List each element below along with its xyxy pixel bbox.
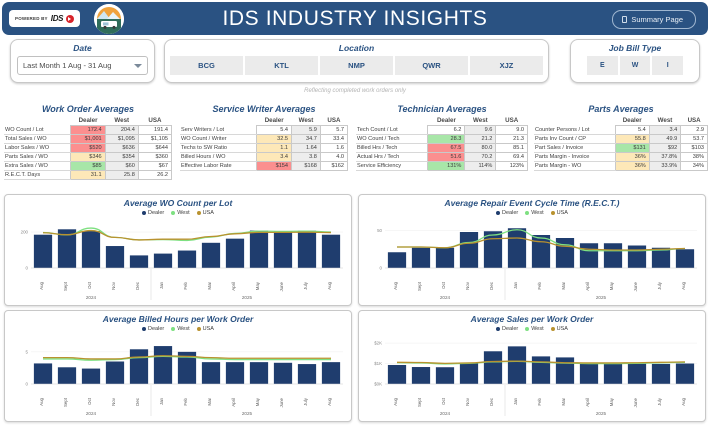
svg-text:0: 0 [26,266,29,271]
bar-Mar[interactable] [202,243,220,268]
legend-dot-icon [496,327,500,331]
row-label: Labor Sales / WO [4,144,71,153]
cell-dealer: 28.3 [428,135,465,144]
table-row: Tech Count / Lot6.29.69.0 [356,126,528,135]
bar-Sept[interactable] [58,367,76,384]
row-label: Actual Hrs / Tech [356,153,428,162]
bar-June[interactable] [628,364,646,384]
location-option-2[interactable]: NMP [320,56,393,75]
table-row: Actual Hrs / Tech51.670.269.4 [356,153,528,162]
cell-usa: 85.1 [496,144,528,153]
kpi-table-technician-averages: DealerWestUSATech Count / Lot6.29.69.0WO… [356,117,528,171]
table-row: WO Count / Tech28.321.221.3 [356,135,528,144]
row-label: Tech Count / Lot [356,126,428,135]
legend-dot-icon [142,327,146,331]
cell-west: 204.4 [105,126,138,135]
cell-dealer: 1.1 [257,144,292,153]
chevron-down-icon [134,64,142,68]
cell-usa: 2.9 [681,126,708,135]
bar-Aug[interactable] [388,252,406,268]
x-axis-label-Jan: Jan [159,281,164,289]
bar-Nov[interactable] [106,246,124,268]
x-axis-label-Jan: Jan [513,281,518,289]
summary-page-button[interactable]: Summary Page [612,10,696,29]
bar-Mar[interactable] [556,238,574,268]
x-axis-label-Oct: Oct [87,397,92,405]
cell-west: $60 [105,162,138,171]
cell-dealer: 36% [615,162,649,171]
x-axis-label-Oct: Oct [441,397,446,405]
bar-Nov[interactable] [460,232,478,268]
table-row: Effective Labor Rate$154$168$162 [180,162,348,171]
cell-west: $92 [649,144,680,153]
x-axis-label-June: June [279,397,284,407]
table-row: Part Sales / Invoice$131$92$103 [534,144,708,153]
cell-west: 3.4 [649,126,680,135]
row-label: Techs to SW Ratio [180,144,257,153]
x-axis-group-label-2025: 2025 [596,411,607,416]
legend-label: USA [557,326,568,332]
chart-svg-avg-sales-per-work-order: $0K$1K$2KAugSeptOctNovDecJanFebMarAprilM… [359,333,705,418]
bar-Dec[interactable] [484,351,502,384]
cell-dealer: 31.1 [71,171,105,180]
kpi-table-parts-averages: DealerWestUSACounter Persons / Lot5.43.4… [534,117,708,171]
column-header-west: West [292,117,321,126]
cell-west: $636 [105,144,138,153]
chart-title-avg-sales-per-work-order: Average Sales per Work Order [359,311,705,324]
bar-April[interactable] [226,362,244,384]
row-label: Parts Margin - Invoice [534,153,615,162]
legend-label: West [177,326,189,332]
row-label: Extra Sales / WO [4,162,71,171]
x-axis-label-June: June [633,397,638,407]
cell-west: $1,095 [105,135,138,144]
x-axis-label-July: July [657,281,662,290]
date-filter-card: Date Last Month 1 Aug - 31 Aug [10,39,155,83]
table-row: Counter Persons / Lot5.43.42.9 [534,126,708,135]
x-axis-group-label-2025: 2025 [242,295,253,300]
table-row: Total Sales / WO$1,001$1,095$1,105 [4,135,172,144]
bar-Oct[interactable] [436,367,454,384]
chart-legend: DealerWestUSA [5,210,351,216]
table-row: Parts Margin - Invoice36%37.8%38% [534,153,708,162]
kpi-block-technician-averages: Technician AveragesDealerWestUSATech Cou… [356,104,528,171]
column-header-dealer: Dealer [428,117,465,126]
bar-Aug[interactable] [676,364,694,384]
column-header-blank [534,117,615,126]
x-axis-label-May: May [609,397,614,406]
x-axis-label-Aug: Aug [681,281,686,289]
bar-April[interactable] [580,243,598,268]
x-axis-label-Aug: Aug [39,281,44,289]
svg-text:$2K: $2K [374,341,382,346]
legend-label: West [531,210,543,216]
svg-text:0: 0 [26,382,29,387]
bar-Dec[interactable] [130,349,148,384]
bar-Dec[interactable] [484,231,502,268]
legend-label: West [177,210,189,216]
bar-Jan[interactable] [508,346,526,384]
legend-dot-icon [525,327,529,331]
column-header-blank [180,117,257,126]
job-bill-type-option-2[interactable]: I [652,56,683,75]
cell-dealer: 131% [428,162,465,171]
x-axis-label-April: April [231,282,236,291]
bar-Oct[interactable] [82,231,100,268]
table-row: Parts Inv Count / CP55.849.953.7 [534,135,708,144]
x-axis-label-Feb: Feb [537,397,542,405]
x-axis-label-Aug: Aug [327,281,332,289]
bar-July[interactable] [652,248,670,268]
row-label: Part Sales / Invoice [534,144,615,153]
row-label: Total Sales / WO [4,135,71,144]
chart-title-avg-repair-event-cycle-time: Average Repair Event Cycle Time (R.E.C.T… [359,195,705,208]
bar-Feb[interactable] [532,356,550,384]
kpi-table-service-writer-averages: DealerWestUSAServ Writers / Lot5.45.95.7… [180,117,348,171]
dashboard-root: POWERED BY IDS IDS INDUSTRY INSIGHTS Sum… [0,0,710,425]
bar-Nov[interactable] [106,362,124,385]
row-label: Service Efficiency [356,162,428,171]
cell-west: $168 [292,162,321,171]
cell-west: 3.8 [292,153,321,162]
column-header-west: West [649,117,680,126]
row-label: Parts Margin - WO [534,162,615,171]
cell-dealer: 36% [615,153,649,162]
column-header-usa: USA [496,117,528,126]
summary-page-label: Summary Page [631,15,683,24]
table-row: Extra Sales / WO$85$60$67 [4,162,172,171]
x-axis-group-label-2025: 2025 [242,411,253,416]
table-row: Serv Writers / Lot5.45.95.7 [180,126,348,135]
chart-panel-avg-repair-event-cycle-time: Average Repair Event Cycle Time (R.E.C.T… [358,194,706,306]
bar-April[interactable] [580,364,598,384]
cell-usa: $360 [138,153,171,162]
bar-May[interactable] [604,364,622,384]
legend-item-usa[interactable]: USA [197,210,214,216]
x-axis-label-Mar: Mar [207,281,212,289]
row-label: R.E.C.T. Days [4,171,71,180]
document-icon [622,16,627,23]
column-header-west: West [465,117,496,126]
table-header-row: DealerWestUSA [4,117,172,126]
row-label: WO Count / Tech [356,135,428,144]
kpi-block-work-order-averages: Work Order AveragesDealerWestUSAWO Count… [4,104,172,180]
row-label: Parts Sales / WO [4,153,71,162]
legend-label: USA [203,326,214,332]
cell-west: 80.0 [465,144,496,153]
bar-Feb[interactable] [532,235,550,268]
x-axis-label-Mar: Mar [561,281,566,289]
cell-dealer: 6.2 [428,126,465,135]
table-row: Service Efficiency131%114%123% [356,162,528,171]
x-axis-label-Dec: Dec [489,397,494,406]
legend-dot-icon [197,211,201,215]
bar-Dec[interactable] [130,255,148,268]
x-axis-label-June: June [633,281,638,291]
kpi-tables-row: Work Order AveragesDealerWestUSAWO Count… [0,104,710,188]
cell-usa: 33.4 [320,135,347,144]
legend-item-west[interactable]: West [525,326,543,332]
legend-label: Dealer [148,210,164,216]
bar-Nov[interactable] [460,363,478,384]
x-axis-label-Aug: Aug [393,281,398,289]
svg-text:0: 0 [380,266,383,271]
legend-item-west[interactable]: West [171,326,189,332]
kpi-title-technician-averages: Technician Averages [356,104,528,114]
row-label: WO Count / Lot [4,126,71,135]
cell-west: 49.9 [649,135,680,144]
cell-dealer: $346 [71,153,105,162]
cell-dealer: 5.4 [615,126,649,135]
legend-dot-icon [551,211,555,215]
legend-item-dealer[interactable]: Dealer [142,210,164,216]
x-axis-label-April: April [231,398,236,407]
column-header-dealer: Dealer [615,117,649,126]
legend-label: USA [557,210,568,216]
bar-Jan[interactable] [508,228,526,268]
chart-svg-avg-wo-count-per-lot: 0200AugSeptOctNovDecJanFebMarAprilMayJun… [5,217,351,302]
column-header-blank [4,117,71,126]
x-axis-label-Aug: Aug [39,397,44,405]
bar-Aug[interactable] [34,235,52,268]
job-bill-type-title: Job Bill Type [571,40,699,53]
location-option-4[interactable]: XJZ [470,56,543,75]
column-header-west: West [105,117,138,126]
refresh-note: Reflecting completed work orders only [0,88,710,94]
filter-bar: Date Last Month 1 Aug - 31 Aug Location … [4,39,706,85]
chart-title-avg-wo-count-per-lot: Average WO Count per Lot [5,195,351,208]
legend-dot-icon [525,211,529,215]
cell-usa: 34% [681,162,708,171]
x-axis-label-Oct: Oct [441,281,446,289]
cell-usa: 5.7 [320,126,347,135]
chart-panel-avg-wo-count-per-lot: Average WO Count per LotDealerWestUSA020… [4,194,352,306]
column-header-usa: USA [681,117,708,126]
row-label: Billed Hours / WO [180,153,257,162]
x-axis-label-Oct: Oct [87,281,92,289]
legend-dot-icon [551,327,555,331]
cell-west: 1.64 [292,144,321,153]
cell-west: 25.8 [105,171,138,180]
svg-text:5: 5 [26,349,29,354]
cell-dealer: $154 [257,162,292,171]
bar-Jan[interactable] [154,254,172,268]
bar-May[interactable] [250,231,268,268]
bar-Oct[interactable] [82,369,100,384]
legend-item-usa[interactable]: USA [551,210,568,216]
row-label: Counter Persons / Lot [534,126,615,135]
x-axis-label-Nov: Nov [111,281,116,290]
legend-dot-icon [171,327,175,331]
cell-usa: $103 [681,144,708,153]
chart-title-avg-billed-hours-per-work-order: Average Billed Hours per Work Order [5,311,351,324]
bar-July[interactable] [298,364,316,384]
legend-item-west[interactable]: West [171,210,189,216]
cell-usa: $67 [138,162,171,171]
x-axis-group-label-2025: 2025 [596,295,607,300]
legend-dot-icon [197,327,201,331]
legend-item-usa[interactable]: USA [551,326,568,332]
table-header-row: DealerWestUSA [534,117,708,126]
legend-item-dealer[interactable]: Dealer [142,326,164,332]
bar-Aug[interactable] [388,365,406,384]
row-label: Parts Inv Count / CP [534,135,615,144]
column-header-usa: USA [138,117,171,126]
bar-Mar[interactable] [556,357,574,384]
kpi-block-parts-averages: Parts AveragesDealerWestUSACounter Perso… [534,104,708,171]
x-axis-label-Sept: Sept [417,281,422,291]
page-title: IDS INDUSTRY INSIGHTS [2,7,708,31]
legend-item-west[interactable]: West [525,210,543,216]
x-axis-label-June: June [279,281,284,291]
x-axis-label-Dec: Dec [135,397,140,406]
chart-svg-avg-repair-event-cycle-time: 050AugSeptOctNovDecJanFebMarAprilMayJune… [359,217,705,302]
bar-Aug[interactable] [34,363,52,384]
location-option-1[interactable]: KTL [245,56,318,75]
bar-July[interactable] [652,364,670,384]
x-axis-group-label-2024: 2024 [86,411,97,416]
x-axis-label-May: May [255,397,260,406]
cell-usa: 9.0 [496,126,528,135]
cell-usa: $644 [138,144,171,153]
chart-legend: DealerWestUSA [5,326,351,332]
chart-legend: DealerWestUSA [359,210,705,216]
bar-May[interactable] [250,362,268,384]
x-axis-label-Sept: Sept [417,397,422,407]
bar-Aug[interactable] [676,249,694,268]
legend-item-dealer[interactable]: Dealer [496,326,518,332]
x-axis-label-Feb: Feb [183,397,188,405]
kpi-title-service-writer-averages: Service Writer Averages [180,104,348,114]
legend-dot-icon [496,211,500,215]
table-row: Billed Hrs / Tech67.580.085.1 [356,144,528,153]
date-range-value: Last Month 1 Aug - 31 Aug [23,61,111,70]
bar-Feb[interactable] [178,251,196,268]
cell-dealer: 32.5 [257,135,292,144]
chart-panel-avg-billed-hours-per-work-order: Average Billed Hours per Work OrderDeale… [4,310,352,422]
cell-usa: 69.4 [496,153,528,162]
job-bill-type-option-0[interactable]: E [587,56,618,75]
table-row: R.E.C.T. Days31.125.826.2 [4,171,172,180]
chart-panel-avg-sales-per-work-order: Average Sales per Work OrderDealerWestUS… [358,310,706,422]
cell-usa: 1.6 [320,144,347,153]
bar-June[interactable] [628,246,646,269]
cell-dealer: 5.4 [257,126,292,135]
cell-west: 37.8% [649,153,680,162]
cell-usa: $1,105 [138,135,171,144]
bar-Oct[interactable] [436,248,454,268]
x-axis-label-May: May [609,281,614,290]
location-option-3[interactable]: QWR [395,56,468,75]
x-axis-label-April: April [585,282,590,291]
cell-west: 9.6 [465,126,496,135]
cell-west: 70.2 [465,153,496,162]
location-filter-card: Location BCG KTL NMP QWR XJZ [164,39,549,83]
cell-west: 114% [465,162,496,171]
legend-label: West [531,326,543,332]
table-row: WO Count / Lot172.4204.4191.4 [4,126,172,135]
date-range-select[interactable]: Last Month 1 Aug - 31 Aug [17,56,148,75]
bar-April[interactable] [226,239,244,268]
bar-Sept[interactable] [412,248,430,268]
location-option-0[interactable]: BCG [170,56,243,75]
cell-dealer: 55.8 [615,135,649,144]
x-axis-label-Aug: Aug [327,397,332,405]
x-axis-label-Nov: Nov [465,281,470,290]
legend-dot-icon [171,211,175,215]
bar-May[interactable] [604,243,622,268]
bar-Aug[interactable] [322,362,340,384]
legend-item-usa[interactable]: USA [197,326,214,332]
cell-west: $354 [105,153,138,162]
x-axis-label-Feb: Feb [183,281,188,289]
x-axis-label-Aug: Aug [393,397,398,405]
job-bill-type-filter-card: Job Bill Type E W I [570,39,700,83]
bar-July[interactable] [298,231,316,268]
x-axis-label-Feb: Feb [537,281,542,289]
kpi-title-parts-averages: Parts Averages [534,104,708,114]
cell-usa: 26.2 [138,171,171,180]
x-axis-label-Nov: Nov [111,397,116,406]
legend-dot-icon [142,211,146,215]
app-header: POWERED BY IDS IDS INDUSTRY INSIGHTS Sum… [2,2,708,35]
cell-dealer: 3.4 [257,153,292,162]
x-axis-label-Sept: Sept [63,281,68,291]
kpi-table-work-order-averages: DealerWestUSAWO Count / Lot172.4204.4191… [4,117,172,180]
cell-west: 34.7 [292,135,321,144]
x-axis-label-Nov: Nov [465,397,470,406]
cell-usa: 4.0 [320,153,347,162]
x-axis-label-July: July [657,397,662,406]
table-row: WO Count / Writer32.534.733.4 [180,135,348,144]
bar-June[interactable] [274,231,292,268]
row-label: Effective Labor Rate [180,162,257,171]
cell-west: 33.9% [649,162,680,171]
x-axis-group-label-2024: 2024 [440,295,451,300]
bar-Sept[interactable] [412,367,430,384]
chart-legend: DealerWestUSA [359,326,705,332]
chart-svg-avg-billed-hours-per-work-order: 05AugSeptOctNovDecJanFebMarAprilMayJuneJ… [5,333,351,418]
table-header-row: DealerWestUSA [180,117,348,126]
kpi-title-work-order-averages: Work Order Averages [4,104,172,114]
bar-June[interactable] [274,363,292,384]
bar-Jan[interactable] [154,346,172,384]
cell-dealer: $85 [71,162,105,171]
bar-Mar[interactable] [202,362,220,384]
column-header-usa: USA [320,117,347,126]
x-axis-label-Dec: Dec [489,281,494,290]
row-label: Serv Writers / Lot [180,126,257,135]
job-bill-type-option-1[interactable]: W [620,56,651,75]
legend-label: USA [203,210,214,216]
column-header-blank [356,117,428,126]
cell-dealer: $131 [615,144,649,153]
cell-dealer: 67.5 [428,144,465,153]
table-row: Parts Margin - WO36%33.9%34% [534,162,708,171]
bar-Aug[interactable] [322,235,340,268]
x-axis-label-Mar: Mar [561,397,566,405]
svg-text:50: 50 [377,228,382,233]
table-header-row: DealerWestUSA [356,117,528,126]
row-label: Billed Hrs / Tech [356,144,428,153]
svg-text:$1K: $1K [374,361,382,366]
date-filter-title: Date [11,40,154,53]
table-row: Parts Sales / WO$346$354$360 [4,153,172,162]
legend-item-dealer[interactable]: Dealer [496,210,518,216]
cell-usa: 21.3 [496,135,528,144]
cell-usa: 53.7 [681,135,708,144]
legend-label: Dealer [148,326,164,332]
